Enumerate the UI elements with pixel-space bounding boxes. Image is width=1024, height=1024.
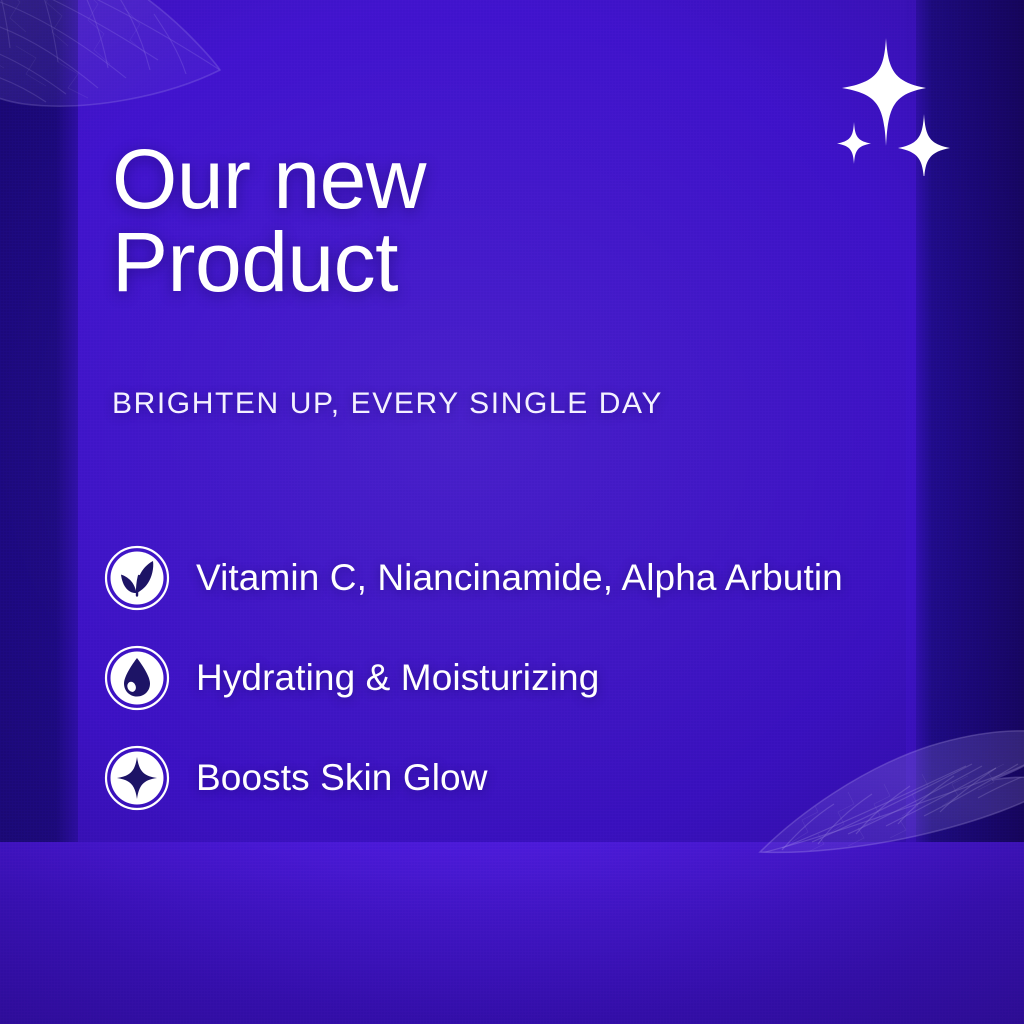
feature-label: Vitamin C, Niancinamide, Alpha Arbutin [196, 557, 843, 599]
content-layer: Our new Product BRIGHTEN UP, EVERY SINGL… [0, 0, 1024, 1024]
promo-poster: Our new Product BRIGHTEN UP, EVERY SINGL… [0, 0, 1024, 1024]
subtitle: BRIGHTEN UP, EVERY SINGLE DAY [112, 387, 663, 421]
feature-list: Vitamin C, Niancinamide, Alpha Arbutin H… [104, 528, 934, 828]
feature-item-glow: Boosts Skin Glow [104, 728, 934, 828]
feature-item-hydration: Hydrating & Moisturizing [104, 628, 934, 728]
feature-label: Boosts Skin Glow [196, 757, 488, 799]
feature-label: Hydrating & Moisturizing [196, 657, 599, 699]
feature-item-ingredients: Vitamin C, Niancinamide, Alpha Arbutin [104, 528, 934, 628]
sparkle-star-icon [104, 745, 170, 811]
page-title: Our new Product [112, 138, 812, 304]
water-droplet-icon [104, 645, 170, 711]
leaf-sprout-icon [104, 545, 170, 611]
